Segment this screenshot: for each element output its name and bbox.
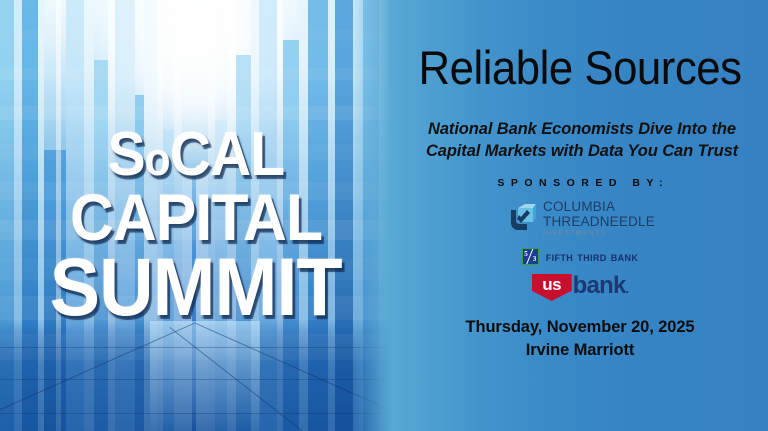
summit-title-line-1: SoCAL bbox=[108, 126, 285, 183]
fifth-third-five-thirds-icon: 5 3 bbox=[522, 248, 539, 265]
us-bank-wordmark: bank. bbox=[573, 274, 629, 301]
artwork-panel: SoCAL CAPITAL SUMMIT bbox=[0, 0, 392, 431]
summit-title-line-3: SUMMIT bbox=[50, 250, 342, 325]
event-headline: Reliable Sources bbox=[405, 44, 755, 91]
us-bank-wordmark-text: bank bbox=[573, 272, 626, 299]
fifth-third-numerator: 5 bbox=[524, 251, 528, 258]
event-poster: SoCAL CAPITAL SUMMIT Reliable Sources Na… bbox=[0, 0, 768, 431]
sponsor-logo-us-bank: us bank. bbox=[392, 274, 768, 301]
sponsor-logo-columbia-threadneedle: COLUMBIA THREADNEEDLE INVESTMENTS bbox=[392, 200, 768, 240]
columbia-threadneedle-line3: INVESTMENTS bbox=[543, 231, 655, 238]
fifth-third-denominator: 3 bbox=[533, 256, 537, 263]
columbia-threadneedle-line2: THREADNEEDLE bbox=[543, 215, 655, 229]
event-subheadline: National Bank Economists Dive Into the C… bbox=[410, 118, 754, 162]
summit-title-line-1-o: o bbox=[145, 133, 170, 185]
columbia-threadneedle-cube-icon bbox=[505, 203, 537, 235]
sponsored-by-label: SPONSORED BY: bbox=[392, 177, 768, 189]
columbia-threadneedle-cube-svg bbox=[505, 203, 537, 235]
sponsor-logo-fifth-third-bank: 5 3 Fifth Third Bank bbox=[392, 248, 768, 270]
us-bank-wordmark-dot: . bbox=[626, 281, 629, 296]
columbia-threadneedle-line1: COLUMBIA bbox=[543, 200, 655, 214]
summit-title-block: SoCAL CAPITAL SUMMIT bbox=[0, 0, 392, 431]
summit-title-line-2: CAPITAL bbox=[70, 187, 322, 248]
fifth-third-wordmark: Fifth Third Bank bbox=[546, 249, 639, 264]
event-date: Thursday, November 20, 2025 bbox=[392, 318, 768, 337]
info-panel: Reliable Sources National Bank Economist… bbox=[392, 0, 768, 431]
us-bank-shield-icon: us bbox=[532, 274, 572, 301]
event-venue: Irvine Marriott bbox=[392, 341, 768, 360]
us-bank-shield-text: us bbox=[542, 274, 561, 293]
